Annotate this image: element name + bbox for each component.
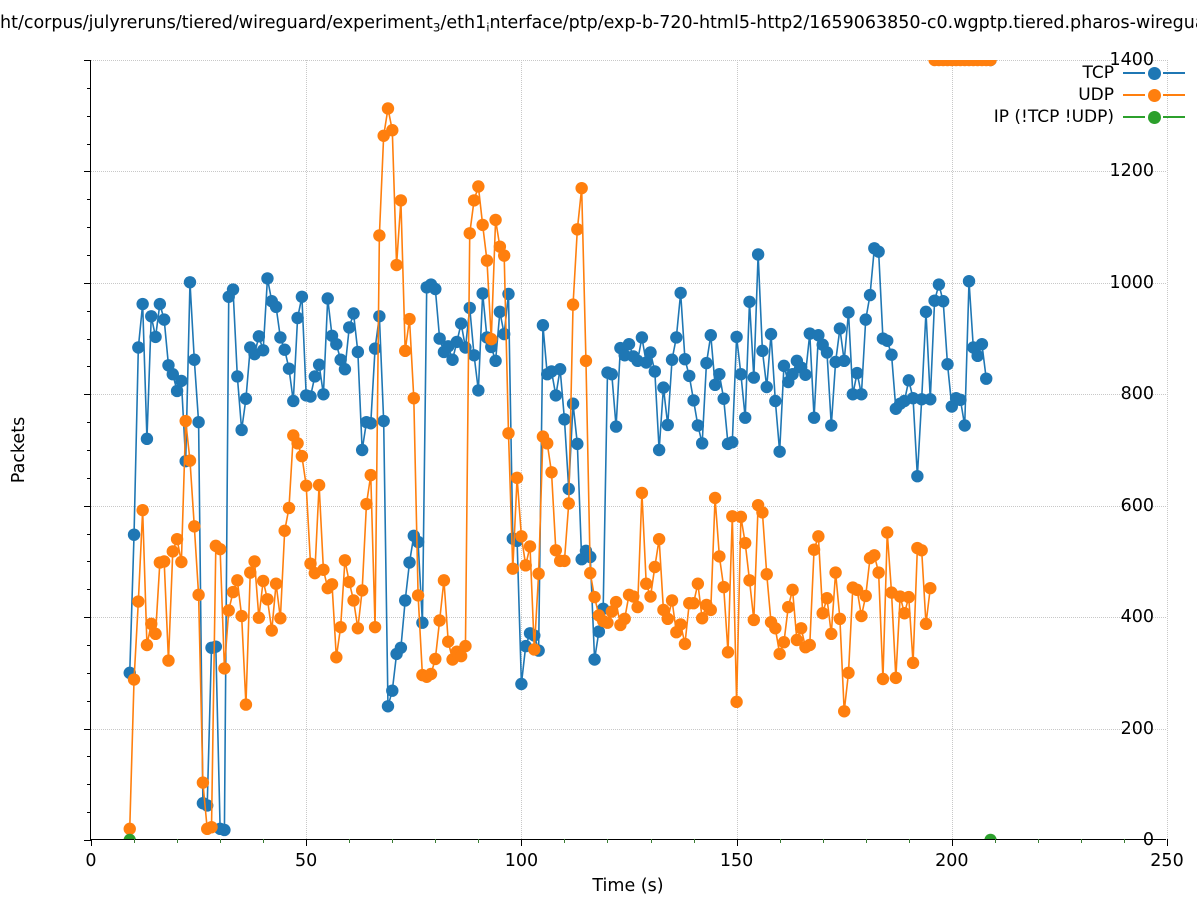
- data-point: [890, 672, 902, 684]
- data-point: [808, 544, 820, 556]
- data-point: [782, 601, 794, 613]
- data-point: [365, 469, 377, 481]
- data-point: [494, 306, 506, 318]
- data-point: [197, 776, 209, 788]
- data-point: [619, 613, 631, 625]
- data-point: [980, 372, 992, 384]
- x-tick-minor: [435, 839, 436, 843]
- data-point: [877, 673, 889, 685]
- data-point: [588, 653, 600, 665]
- data-point: [326, 578, 338, 590]
- data-point: [373, 310, 385, 322]
- data-point: [696, 437, 708, 449]
- data-point: [769, 622, 781, 634]
- data-point: [537, 319, 549, 331]
- data-point: [558, 413, 570, 425]
- data-point: [885, 349, 897, 361]
- grid-line-vertical: [1167, 60, 1168, 839]
- data-point: [588, 591, 600, 603]
- data-point: [855, 610, 867, 622]
- data-point: [304, 390, 316, 402]
- data-point: [920, 306, 932, 318]
- data-point: [954, 394, 966, 406]
- data-point: [322, 292, 334, 304]
- data-point: [296, 291, 308, 303]
- data-point: [218, 824, 230, 836]
- data-point: [898, 607, 910, 619]
- x-tick-minor: [995, 839, 996, 843]
- data-point: [567, 398, 579, 410]
- data-point: [498, 328, 510, 340]
- data-point: [722, 646, 734, 658]
- data-point: [154, 298, 166, 310]
- data-point: [386, 124, 398, 136]
- series-tcp: [124, 60, 997, 836]
- data-point: [235, 610, 247, 622]
- data-point: [468, 194, 480, 206]
- legend-line-left: [1123, 94, 1145, 96]
- data-point: [472, 384, 484, 396]
- data-point: [558, 555, 570, 567]
- data-point: [214, 543, 226, 555]
- data-point: [283, 362, 295, 374]
- data-point: [563, 497, 575, 509]
- data-point: [842, 667, 854, 679]
- chart-title-part-0: ht/corpus/julyreruns/tiered/wireguard/ex…: [0, 13, 433, 33]
- data-point: [941, 358, 953, 370]
- data-point: [511, 472, 523, 484]
- data-point: [136, 504, 148, 516]
- series-udp: [124, 60, 997, 835]
- data-point: [550, 389, 562, 401]
- data-point: [347, 594, 359, 606]
- data-point: [752, 248, 764, 260]
- data-point: [584, 567, 596, 579]
- data-point: [507, 562, 519, 574]
- data-point: [489, 214, 501, 226]
- legend-line-right: [1163, 72, 1185, 74]
- data-point: [868, 549, 880, 561]
- data-point: [778, 636, 790, 648]
- data-point: [571, 223, 583, 235]
- y-tick: [84, 840, 91, 841]
- data-point: [360, 498, 372, 510]
- data-point: [278, 344, 290, 356]
- data-point: [403, 313, 415, 325]
- data-point: [227, 586, 239, 598]
- data-point: [799, 369, 811, 381]
- data-point: [373, 229, 385, 241]
- data-point: [872, 566, 884, 578]
- data-point: [412, 589, 424, 601]
- data-point: [610, 420, 622, 432]
- x-tick-minor: [694, 839, 695, 843]
- data-point: [317, 564, 329, 576]
- data-point: [567, 298, 579, 310]
- data-point: [416, 617, 428, 629]
- data-point: [296, 450, 308, 462]
- data-point: [339, 554, 351, 566]
- data-point: [743, 574, 755, 586]
- x-tick: [91, 839, 92, 846]
- data-point: [976, 338, 988, 350]
- data-point: [468, 349, 480, 361]
- data-point: [735, 368, 747, 380]
- data-point: [748, 371, 760, 383]
- legend-swatch: [1123, 109, 1185, 125]
- data-point: [554, 363, 566, 375]
- data-point: [812, 530, 824, 542]
- x-tick-label: 250: [1150, 851, 1183, 871]
- data-point: [377, 415, 389, 427]
- data-point: [653, 444, 665, 456]
- data-point: [679, 353, 691, 365]
- data-point: [666, 354, 678, 366]
- data-point: [188, 520, 200, 532]
- legend-label: IP (!TCP !UDP): [994, 107, 1114, 127]
- x-tick-minor: [263, 839, 264, 843]
- legend-item-ip-tcp-udp-[interactable]: IP (!TCP !UDP): [994, 106, 1185, 128]
- data-point: [679, 638, 691, 650]
- data-point: [399, 594, 411, 606]
- y-tick: [84, 394, 91, 395]
- legend-label: UDP: [1078, 85, 1114, 105]
- data-point: [640, 578, 652, 590]
- data-point: [485, 333, 497, 345]
- data-point: [726, 436, 738, 448]
- data-point: [309, 370, 321, 382]
- data-point: [472, 180, 484, 192]
- x-tick-minor: [651, 839, 652, 843]
- data-point: [631, 601, 643, 613]
- data-point: [274, 331, 286, 343]
- data-point: [674, 618, 686, 630]
- data-point: [739, 411, 751, 423]
- data-point: [175, 375, 187, 387]
- x-tick-minor: [349, 839, 350, 843]
- legend-item-tcp[interactable]: TCP: [994, 62, 1185, 84]
- data-point: [816, 607, 828, 619]
- data-point: [257, 344, 269, 356]
- legend-line-left: [1123, 116, 1145, 118]
- legend-line-right: [1163, 94, 1185, 96]
- data-point: [210, 640, 222, 652]
- data-point: [524, 540, 536, 552]
- data-point: [128, 673, 140, 685]
- data-point: [627, 590, 639, 602]
- data-point: [705, 329, 717, 341]
- data-point: [498, 249, 510, 261]
- chart-title: ht/corpus/julyreruns/tiered/wireguard/ex…: [0, 8, 1197, 38]
- x-tick-minor: [1124, 839, 1125, 843]
- data-point: [864, 289, 876, 301]
- data-point: [205, 821, 217, 833]
- data-point: [386, 684, 398, 696]
- data-point: [132, 341, 144, 353]
- data-point: [231, 370, 243, 382]
- legend-marker-icon: [1148, 89, 1161, 102]
- data-point: [218, 662, 230, 674]
- series-clip: [91, 60, 1166, 839]
- data-point: [227, 283, 239, 295]
- data-point: [700, 357, 712, 369]
- data-point: [476, 287, 488, 299]
- data-point: [851, 367, 863, 379]
- data-point: [575, 182, 587, 194]
- x-tick-label: 50: [295, 851, 317, 871]
- data-point: [860, 590, 872, 602]
- data-point: [984, 834, 996, 839]
- y-axis-label-text: Packets: [9, 417, 29, 483]
- y-tick: [84, 617, 91, 618]
- data-point: [855, 388, 867, 400]
- data-point: [666, 594, 678, 606]
- data-point: [717, 581, 729, 593]
- data-point: [124, 823, 136, 835]
- data-point: [291, 312, 303, 324]
- legend-item-udp[interactable]: UDP: [994, 84, 1185, 106]
- x-tick: [737, 839, 738, 846]
- x-tick-minor: [134, 839, 135, 843]
- data-point: [149, 331, 161, 343]
- data-point: [743, 296, 755, 308]
- data-point: [171, 533, 183, 545]
- figure: ht/corpus/julyreruns/tiered/wireguard/ex…: [0, 0, 1197, 900]
- data-point: [347, 307, 359, 319]
- data-point: [773, 445, 785, 457]
- data-point: [317, 388, 329, 400]
- data-point: [730, 331, 742, 343]
- data-point: [881, 335, 893, 347]
- data-point: [773, 648, 785, 660]
- data-point: [313, 359, 325, 371]
- data-point: [369, 342, 381, 354]
- data-point: [253, 612, 265, 624]
- data-point: [343, 321, 355, 333]
- data-point: [339, 363, 351, 375]
- data-point: [580, 355, 592, 367]
- data-point: [915, 544, 927, 556]
- data-point: [162, 654, 174, 666]
- data-point: [653, 533, 665, 545]
- data-point: [240, 393, 252, 405]
- data-point: [911, 470, 923, 482]
- data-point: [963, 275, 975, 287]
- data-point: [838, 355, 850, 367]
- x-tick: [306, 839, 307, 846]
- data-point: [382, 700, 394, 712]
- data-point: [464, 227, 476, 239]
- legend-label: TCP: [1082, 63, 1114, 83]
- data-point: [446, 354, 458, 366]
- y-tick: [84, 60, 91, 61]
- x-tick-label: 100: [505, 851, 538, 871]
- data-point: [425, 668, 437, 680]
- data-point: [761, 568, 773, 580]
- data-point: [455, 317, 467, 329]
- data-point: [748, 614, 760, 626]
- data-point: [821, 592, 833, 604]
- y-tick: [84, 171, 91, 172]
- data-point: [769, 395, 781, 407]
- data-point: [808, 411, 820, 423]
- data-point: [735, 511, 747, 523]
- data-point: [687, 597, 699, 609]
- data-point: [330, 651, 342, 663]
- data-point: [657, 381, 669, 393]
- series-ip-tcp-udp-: [124, 834, 997, 839]
- data-point: [167, 545, 179, 557]
- data-point: [834, 322, 846, 334]
- data-point: [692, 419, 704, 431]
- data-point: [765, 328, 777, 340]
- data-point: [515, 678, 527, 690]
- data-point: [330, 338, 342, 350]
- data-point: [924, 582, 936, 594]
- data-point: [541, 437, 553, 449]
- data-point: [571, 438, 583, 450]
- data-point: [532, 567, 544, 579]
- data-point: [223, 604, 235, 616]
- data-point: [412, 536, 424, 548]
- data-point: [649, 561, 661, 573]
- data-point: [683, 370, 695, 382]
- x-tick-minor: [823, 839, 824, 843]
- data-point: [674, 287, 686, 299]
- x-tick-minor: [478, 839, 479, 843]
- data-point: [705, 604, 717, 616]
- plot-area: 0200400600800100012001400050100150200250: [90, 60, 1166, 840]
- data-point: [670, 331, 682, 343]
- data-point: [390, 259, 402, 271]
- data-point: [278, 525, 290, 537]
- data-point: [459, 640, 471, 652]
- legend-swatch: [1123, 65, 1185, 81]
- data-point: [343, 576, 355, 588]
- data-point: [903, 591, 915, 603]
- y-tick: [84, 506, 91, 507]
- data-point: [261, 272, 273, 284]
- data-point: [476, 219, 488, 231]
- data-point: [128, 528, 140, 540]
- legend-marker-icon: [1148, 67, 1161, 80]
- data-point: [184, 454, 196, 466]
- data-point: [829, 566, 841, 578]
- data-point: [158, 555, 170, 567]
- x-tick-label: 0: [85, 851, 96, 871]
- data-point: [959, 419, 971, 431]
- data-point: [192, 589, 204, 601]
- data-point: [924, 393, 936, 405]
- x-tick-minor: [392, 839, 393, 843]
- x-tick-minor: [909, 839, 910, 843]
- data-point: [834, 613, 846, 625]
- data-point: [395, 194, 407, 206]
- data-point: [687, 394, 699, 406]
- data-point: [804, 639, 816, 651]
- data-point: [872, 245, 884, 257]
- data-point: [786, 584, 798, 596]
- data-point: [636, 487, 648, 499]
- data-point: [395, 642, 407, 654]
- data-point: [382, 102, 394, 114]
- data-point: [313, 479, 325, 491]
- data-point: [352, 346, 364, 358]
- chart-title-part-2: /eth1: [440, 13, 486, 33]
- data-point: [240, 698, 252, 710]
- data-point: [842, 306, 854, 318]
- data-point: [287, 395, 299, 407]
- data-point: [709, 379, 721, 391]
- data-point: [266, 624, 278, 636]
- x-tick-minor: [564, 839, 565, 843]
- data-point: [231, 574, 243, 586]
- data-point: [550, 544, 562, 556]
- legend-marker-icon: [1148, 111, 1161, 124]
- y-axis-label: Packets: [8, 60, 30, 840]
- data-point: [433, 614, 445, 626]
- data-point: [761, 381, 773, 393]
- data-point: [520, 559, 532, 571]
- data-point: [352, 622, 364, 634]
- x-tick: [521, 839, 522, 846]
- legend-line-right: [1163, 116, 1185, 118]
- data-point: [649, 365, 661, 377]
- data-point: [481, 254, 493, 266]
- data-point: [907, 657, 919, 669]
- chart-title-part-4: nterface/ptp/exp-b-720-html5-http2/16590…: [490, 13, 1197, 33]
- data-point: [515, 530, 527, 542]
- data-point: [175, 556, 187, 568]
- data-point: [937, 295, 949, 307]
- data-point: [253, 330, 265, 342]
- x-tick-minor: [1038, 839, 1039, 843]
- data-point: [502, 427, 514, 439]
- x-axis-label: Time (s): [90, 876, 1166, 896]
- data-point: [132, 595, 144, 607]
- data-point: [442, 635, 454, 647]
- data-point: [825, 419, 837, 431]
- data-point: [270, 301, 282, 313]
- x-tick-label: 200: [935, 851, 968, 871]
- data-point: [179, 415, 191, 427]
- x-tick-minor: [866, 839, 867, 843]
- data-point: [399, 345, 411, 357]
- y-tick: [84, 283, 91, 284]
- data-point: [610, 596, 622, 608]
- x-tick: [1167, 839, 1168, 846]
- data-point: [270, 578, 282, 590]
- x-tick-minor: [177, 839, 178, 843]
- data-point: [248, 555, 260, 567]
- data-point: [403, 556, 415, 568]
- data-point: [261, 593, 273, 605]
- data-point: [334, 621, 346, 633]
- data-point: [838, 705, 850, 717]
- legend-swatch: [1123, 87, 1185, 103]
- series-canvas: [91, 60, 1166, 839]
- data-point: [274, 612, 286, 624]
- data-point: [136, 298, 148, 310]
- data-point: [188, 354, 200, 366]
- data-point: [365, 417, 377, 429]
- data-point: [158, 313, 170, 325]
- series-line: [130, 108, 931, 828]
- data-point: [795, 622, 807, 634]
- data-point: [756, 345, 768, 357]
- x-tick-minor: [1081, 839, 1082, 843]
- legend-line-left: [1123, 72, 1145, 74]
